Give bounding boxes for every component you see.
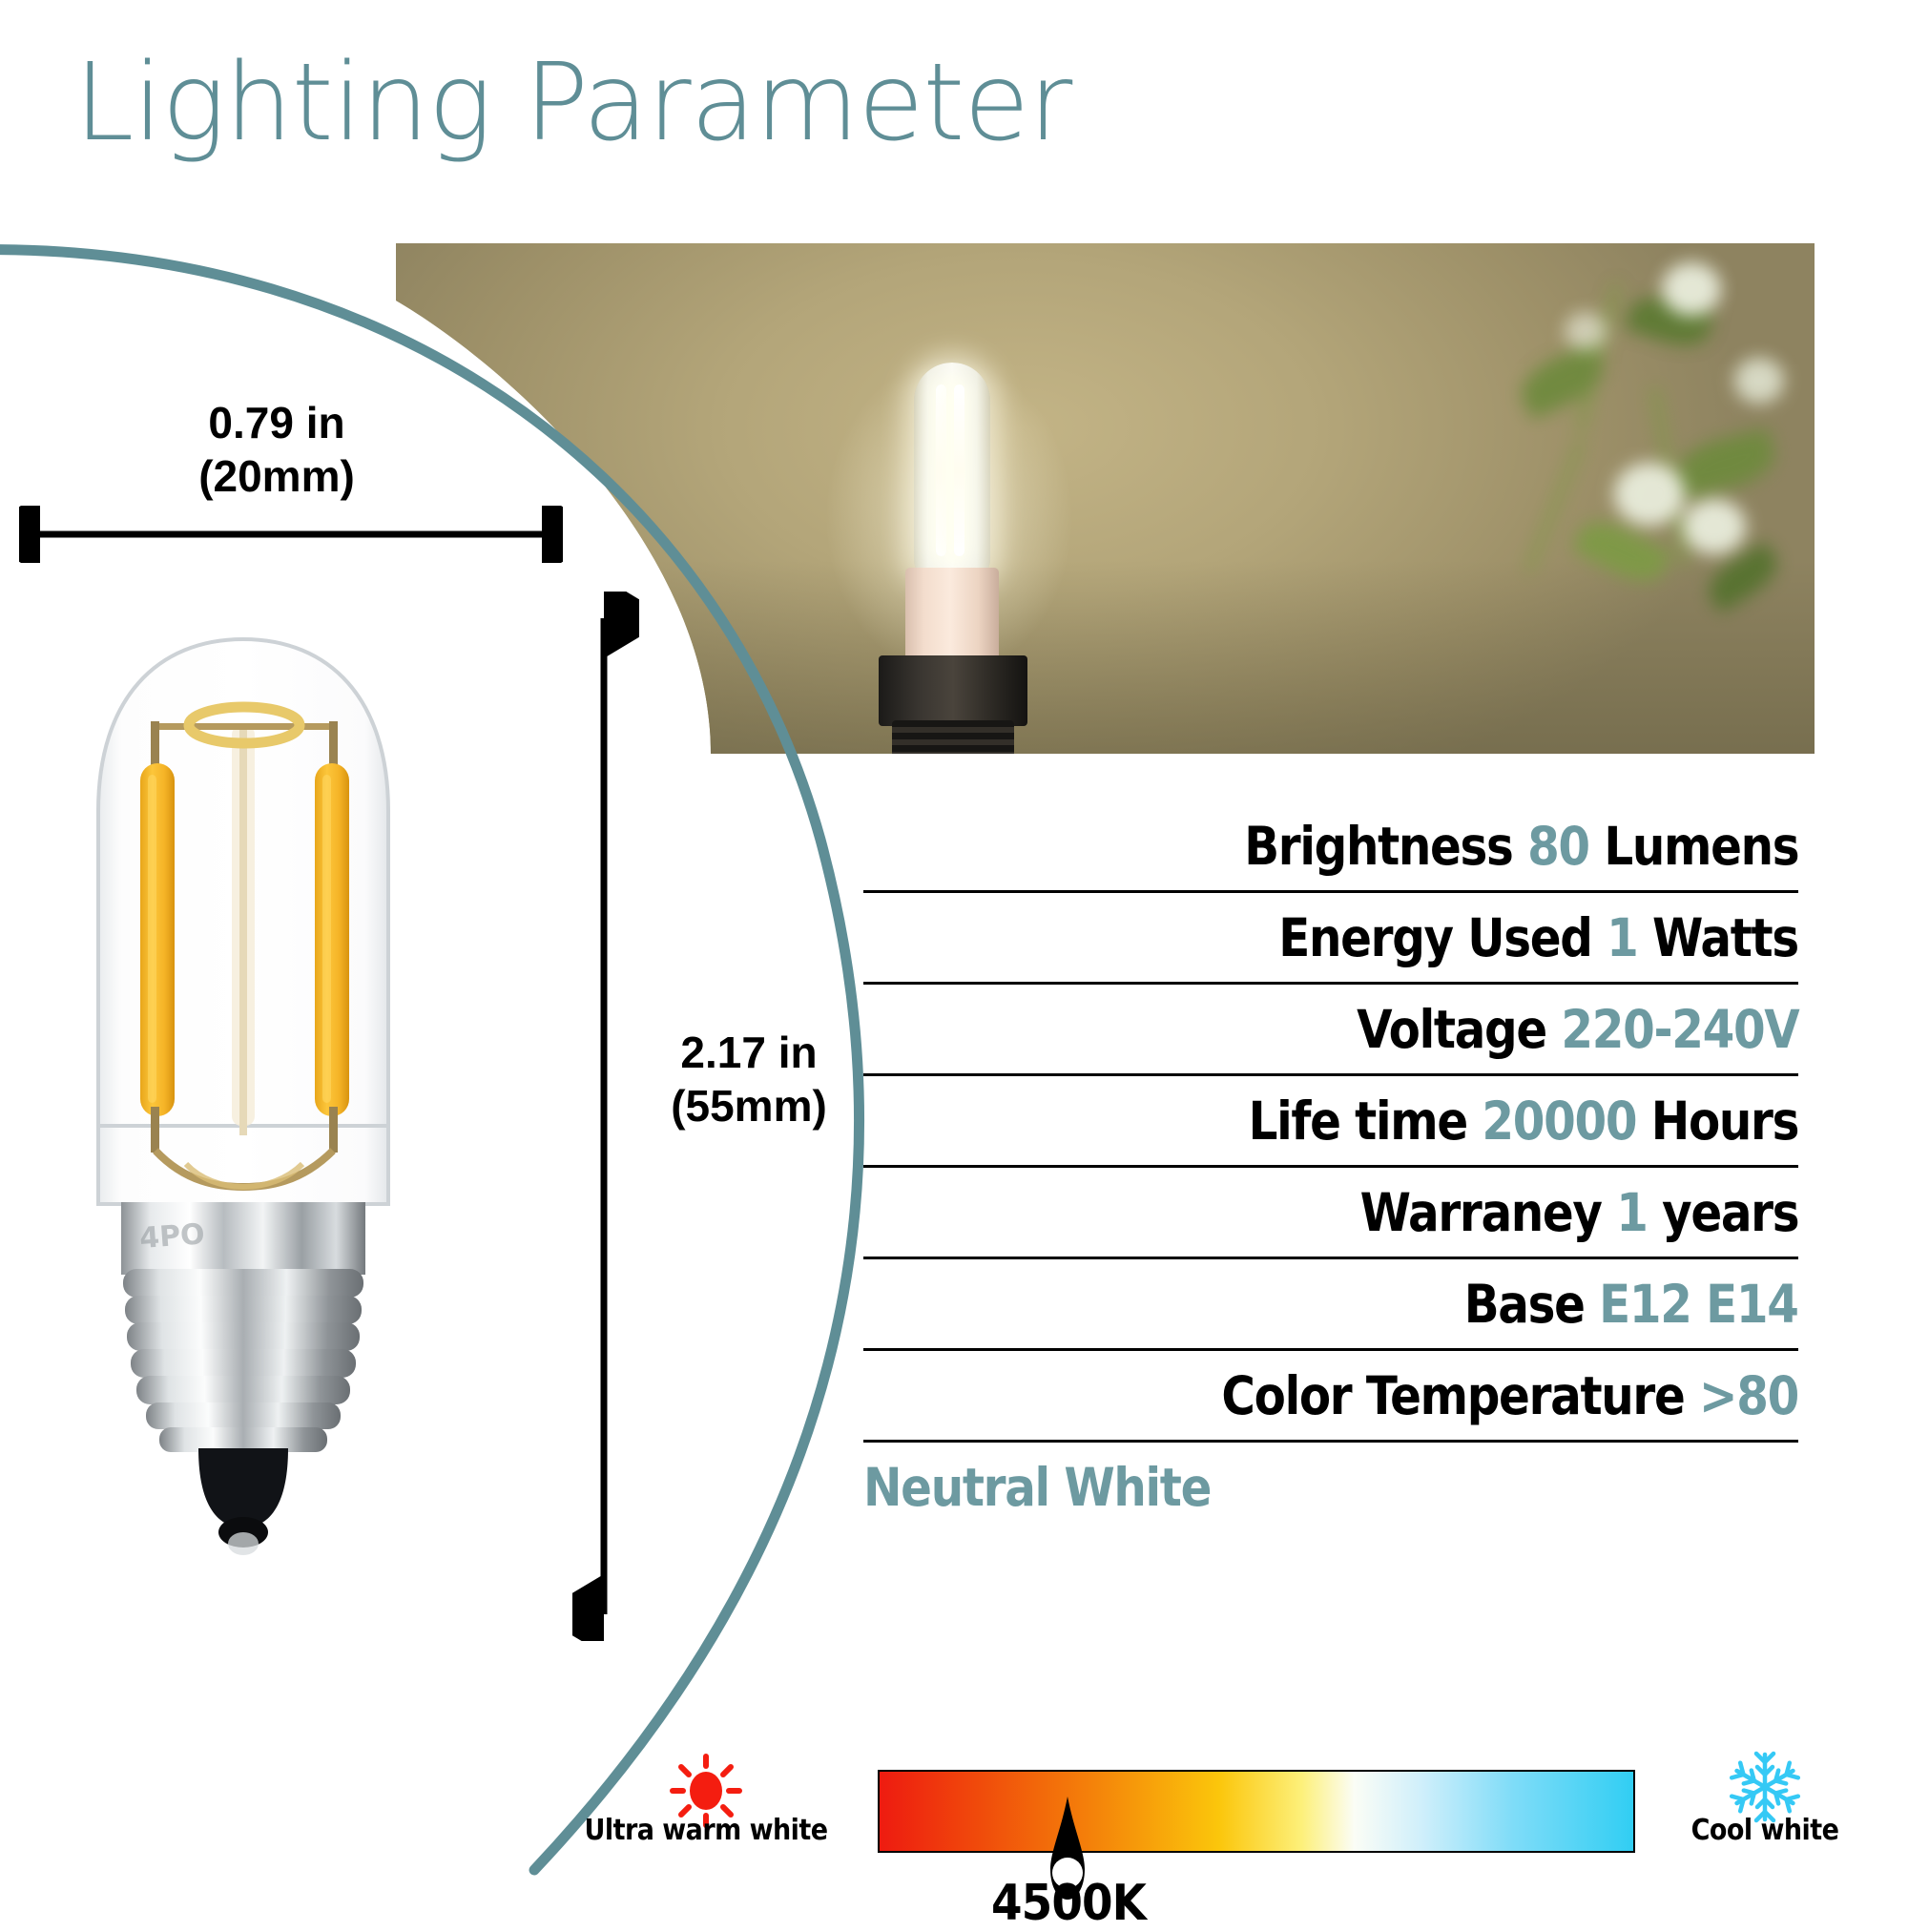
photo-foliage [1462,243,1815,654]
ultra-warm-white-label: Ultra warm white [565,1814,848,1847]
color-temperature-gradient-bar [878,1770,1635,1853]
spec-brightness: Brightness 80 Lumens [1244,816,1798,877]
product-bulb-illustration: 4PO [72,611,415,1622]
height-dimension-arrow [572,592,639,1641]
table-row: Energy Used 1 Watts [863,893,1798,985]
spec-table: Brightness 80 Lumens Energy Used 1 Watts… [863,801,1798,1531]
height-inches: 2.17 in [611,1026,887,1079]
width-dimension-label: 0.79 in (20mm) [38,396,515,503]
table-row: Color Temperature >80 [863,1351,1798,1443]
spec-warranty: Warraney 1 years [1359,1182,1798,1243]
photo-socket [879,655,1027,726]
table-row: Brightness 80 Lumens [863,801,1798,893]
table-row: Warraney 1 years [863,1168,1798,1259]
width-mm: (20mm) [38,449,515,503]
height-dimension-label: 2.17 in (55mm) [611,1026,887,1132]
height-mm: (55mm) [611,1079,887,1132]
spec-white-tone: Neutral White [863,1457,1211,1518]
spec-energy-used: Energy Used 1 Watts [1278,907,1798,968]
table-row: Neutral White [863,1443,1798,1531]
kelvin-value: 4500K [991,1875,1146,1932]
table-row: Voltage 220-240V [863,985,1798,1076]
cool-white-label: Cool white [1653,1814,1877,1847]
photo-bulb-filament [954,384,964,556]
width-inches: 0.79 in [38,396,515,449]
width-dimension-arrow [19,506,563,563]
spec-voltage: Voltage 220-240V [1357,999,1798,1060]
svg-text:4PO: 4PO [138,1217,206,1256]
photo-bulb-filament [936,384,946,556]
page-title: Lighting Parameter [74,48,1315,160]
table-row: Life time 20000 Hours [863,1076,1798,1168]
spec-life-time: Life time 20000 Hours [1249,1091,1798,1152]
infographic-canvas: Lighting Parameter 0.79 in (20mm) 2.17 i… [0,0,1908,1908]
color-temperature-scale: Ultra warm white 4500K [668,1770,1879,1903]
table-row: Base E12 E14 [863,1259,1798,1351]
photo-socket-threads [892,720,1014,754]
photo-bulb-glass [914,363,990,577]
spec-base: Base E12 E14 [1464,1274,1798,1335]
spec-color-temperature: Color Temperature >80 [1221,1365,1798,1426]
